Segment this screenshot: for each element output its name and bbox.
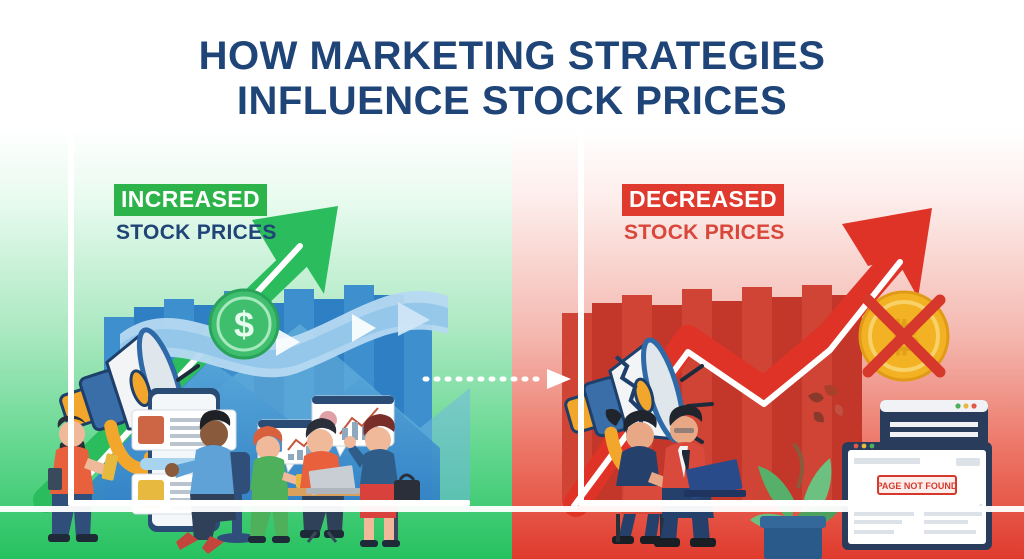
infographic-root: HOW MARKETING STRATEGIES INFLUENCE STOCK… xyxy=(0,0,1024,559)
page-title: HOW MARKETING STRATEGIES INFLUENCE STOCK… xyxy=(0,34,1024,124)
increased-highlight: INCREASED xyxy=(114,184,267,216)
falling-leaf xyxy=(824,385,838,396)
dollar-coin-icon: $ xyxy=(210,290,278,358)
panel-increased: $ xyxy=(0,128,512,559)
falling-leaf xyxy=(808,392,824,402)
arrowhead-icon xyxy=(547,369,571,389)
crossed-out-coin-icon: ₿ xyxy=(860,292,948,380)
potted-plant-icon xyxy=(750,385,843,559)
right-axis-vertical xyxy=(578,98,584,506)
left-to-right-flow-arrow xyxy=(425,368,575,390)
glasses xyxy=(674,428,694,433)
falling-leaf xyxy=(835,404,843,416)
panel-decreased: ₿ xyxy=(512,128,1024,559)
right-axis-horizontal xyxy=(578,500,980,506)
worried-team-illustration xyxy=(606,405,746,547)
increased-sublabel: STOCK PRICES xyxy=(114,221,277,245)
label-increased: INCREASED STOCK PRICES xyxy=(114,184,277,245)
falling-leaf xyxy=(814,412,824,423)
decreased-sublabel: STOCK PRICES xyxy=(622,221,785,245)
label-decreased: DECREASED STOCK PRICES xyxy=(622,184,785,245)
browser-window-error: PAGE NOT FOUND xyxy=(842,442,992,550)
briefcase-icon xyxy=(394,480,420,502)
title-line-1: HOW MARKETING STRATEGIES xyxy=(0,34,1024,79)
svg-text:$: $ xyxy=(234,304,254,345)
left-axis-vertical xyxy=(68,98,74,506)
title-line-2: INFLUENCE STOCK PRICES xyxy=(0,79,1024,124)
decreased-highlight: DECREASED xyxy=(622,184,784,216)
error-text: PAGE NOT FOUND xyxy=(877,481,958,491)
left-axis-horizontal xyxy=(68,500,470,506)
